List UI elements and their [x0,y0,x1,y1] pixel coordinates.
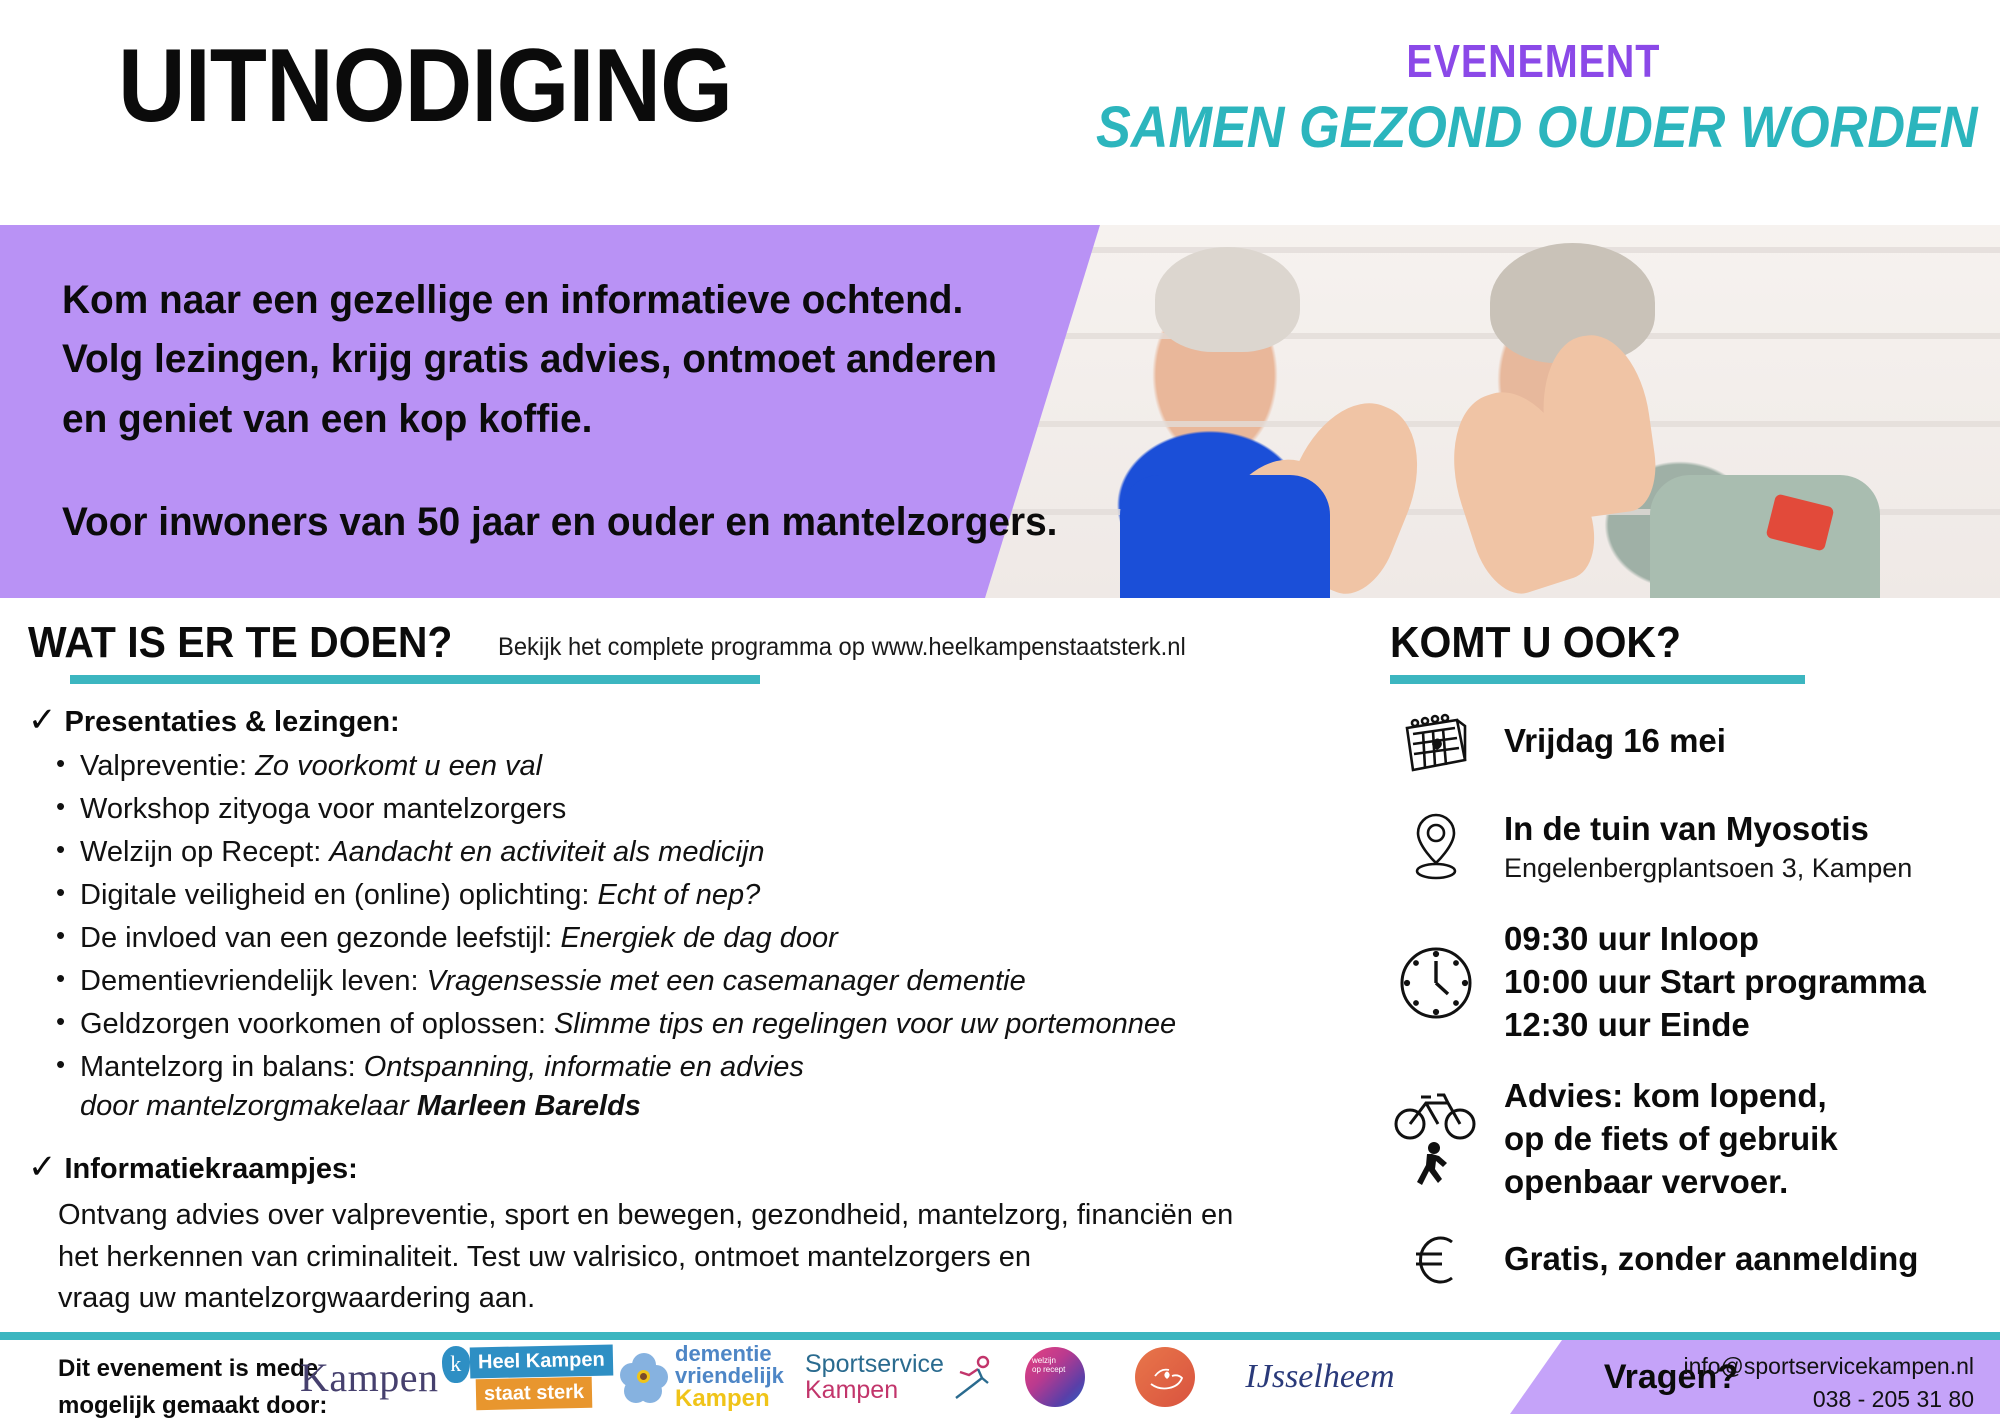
welzijn-op-recept-badge: welzijn op recept [1025,1347,1085,1407]
list-item: De invloed van een gezonde leefstijl: En… [28,922,1318,955]
left-column: WAT IS ER TE DOEN? Bekijk het complete p… [28,618,1318,1319]
time-line-1: 09:30 uur Inloop [1504,918,1926,961]
logo-heel-kampen: Heel Kampen staat sterk [470,1346,620,1409]
presentations-heading: ✓ Presentaties & lezingen: [28,706,1318,740]
dementie-wordmark: dementie vriendelijk Kampen [675,1343,784,1411]
credit-line-2: mogelijk gemaakt door: [58,1387,327,1424]
contact-email[interactable]: info@sportservicekampen.nl [1683,1350,1974,1383]
price-value: Gratis, zonder aanmelding [1504,1238,1918,1281]
banner-line-3: en geniet van een kop koffie. [62,390,1110,449]
main-content: WAT IS ER TE DOEN? Bekijk het complete p… [0,598,2000,1314]
location-text: In de tuin van Myosotis Engelenbergplant… [1504,808,1912,884]
logo-isselheem: IJsselheem [1220,1358,1420,1396]
time-line-2: 10:00 uur Start programma [1504,961,1926,1004]
calendar-icon [1390,708,1482,774]
topic-emphasis: Energiek de dag door [560,922,837,954]
info-stands-body: Ontvang advies over valpreventie, sport … [28,1195,1318,1319]
dementie-line-1: dementie [675,1343,784,1365]
info-line-3: vraag uw mantelzorgwaardering aan. [58,1278,1318,1319]
list-item: Workshop zityoga voor mantelzorgers [28,793,1318,826]
event-kicker: EVENEMENT [1406,34,1660,88]
presentations-label: Presentaties & lezingen: [65,706,400,739]
sponsor-credit: Dit evenement is mede mogelijk gemaakt d… [58,1350,327,1424]
banner-line-4: Voor inwoners van 50 jaar en ouder en ma… [62,493,1110,552]
detail-times: 09:30 uur Inloop 10:00 uur Start program… [1390,918,1975,1047]
travel-line-3: openbaar vervoer. [1504,1161,1838,1204]
topic-lead: De invloed van een gezonde leefstijl: [80,922,560,954]
wor-line-1: welzijn [1032,1356,1065,1365]
topic-lead: Digitale veiligheid en (online) oplichti… [80,879,597,911]
dementie-line-3: Kampen [675,1387,784,1411]
list-item: Mantelzorg in balans: Ontspanning, infor… [28,1051,1318,1084]
right-column: KOMT U OOK? Vrijdag 16 mei [1390,618,1975,1290]
contact-block: info@sportservicekampen.nl 038 - 205 31 … [1683,1350,1974,1417]
contact-phone[interactable]: 038 - 205 31 80 [1683,1383,1974,1416]
info-stands-heading: ✓ Informatiekraampjes: [28,1153,1318,1187]
runner-icon [950,1355,994,1399]
left-heading-rule [70,675,760,684]
topic-lead: Workshop zityoga voor mantelzorgers [80,793,566,825]
date-value: Vrijdag 16 mei [1504,720,1726,763]
poster-header: UITNODIGING EVENEMENT SAMEN GEZOND OUDER… [0,0,2000,225]
info-line-2: het herkennen van criminaliteit. Test uw… [58,1237,1318,1278]
credit-line-1: Dit evenement is mede [58,1350,327,1387]
logo-sportservice-kampen: Sportservice Kampen [805,1351,1000,1404]
logo-kampen: Kampen k [300,1354,470,1401]
presentation-list: Valpreventie: Zo voorkomt u een val Work… [28,750,1318,1084]
info-stands-label: Informatiekraampjes: [65,1153,358,1186]
detail-date: Vrijdag 16 mei [1390,708,1975,774]
topic-emphasis: Aandacht en activiteit als medicijn [329,836,764,868]
info-line-1: Ontvang advies over valpreventie, sport … [58,1195,1318,1236]
right-heading-rule [1390,675,1805,684]
check-icon: ✓ [28,703,57,737]
banner-line-1: Kom naar een gezellige en informatieve o… [62,271,1110,330]
detail-travel: Advies: kom lopend, op de fiets of gebru… [1390,1075,1975,1204]
hero-banner: Kom naar een gezellige en informatieve o… [0,225,2000,598]
topic-emphasis: Vragensessie met een casemanager dementi… [427,965,1026,997]
right-section-heading: KOMT U OOK? [1390,618,1934,668]
clock-icon [1390,942,1482,1024]
left-section-heading: WAT IS ER TE DOEN? [28,618,452,668]
list-item: Digitale veiligheid en (online) oplichti… [28,879,1318,912]
banner-text-block: Kom naar een gezellige en informatieve o… [62,225,1142,598]
topic-lead: Dementievriendelijk leven: [80,965,427,997]
venue-name: In de tuin van Myosotis [1504,808,1912,851]
list-item: Valpreventie: Zo voorkomt u een val [28,750,1318,783]
date-text: Vrijdag 16 mei [1504,720,1726,763]
speaker-name: Marleen Barelds [417,1090,641,1122]
topic-lead: Valpreventie: [80,750,255,782]
travel-text: Advies: kom lopend, op de fiets of gebru… [1504,1075,1838,1204]
speaker-line: door mantelzorgmakelaar Marleen Barelds [28,1090,1318,1123]
topic-emphasis: Ontspanning, informatie en advies [364,1051,804,1083]
heel-kampen-line-1: Heel Kampen [470,1344,613,1378]
sportservice-line-1: Sportservice [805,1351,944,1377]
topic-lead: Mantelzorg in balans: [80,1051,364,1083]
topic-emphasis: Echt of nep? [597,879,760,911]
location-pin-icon [1390,809,1482,883]
logo-care-circle [1110,1347,1220,1407]
venue-address: Engelenbergplantsoen 3, Kampen [1504,852,1912,884]
isselheem-wordmark: IJsselheem [1245,1358,1394,1396]
euro-icon [1390,1230,1482,1290]
flower-icon [620,1353,668,1401]
event-subtitle: SAMEN GEZOND OUDER WORDEN [1096,94,1978,161]
travel-line-1: Advies: kom lopend, [1504,1075,1838,1118]
sportservice-wordmark: Sportservice Kampen [805,1351,944,1404]
time-line-3: 12:30 uur Einde [1504,1004,1926,1047]
check-icon: ✓ [28,1150,57,1184]
programme-note: Bekijk het complete programma op www.hee… [498,633,1186,662]
sportservice-line-2: Kampen [805,1377,944,1403]
wor-line-2: op recept [1032,1365,1065,1374]
bicycle-walker-icon [1390,1087,1482,1191]
list-item: Welzijn op Recept: Aandacht en activitei… [28,836,1318,869]
detail-price: Gratis, zonder aanmelding [1390,1230,1975,1290]
page-title: UITNODIGING [118,34,732,138]
list-item: Dementievriendelijk leven: Vragensessie … [28,965,1318,998]
logo-welzijn-op-recept: welzijn op recept [1000,1347,1110,1407]
topic-lead: Geldzorgen voorkomen of oplossen: [80,1008,554,1040]
kampen-wordmark: Kampen [300,1354,439,1401]
logo-dementievriendelijk: dementie vriendelijk Kampen [620,1343,805,1411]
travel-line-2: op de fiets of gebruik [1504,1118,1838,1161]
kampen-shield-icon: k [442,1346,470,1383]
sponsor-logos: Kampen k Heel Kampen staat sterk dementi… [300,1340,1420,1414]
dementie-line-2: vriendelijk [675,1365,784,1387]
footer-rule [0,1332,2000,1340]
topic-lead: Welzijn op Recept: [80,836,329,868]
footer-bar: Dit evenement is mede mogelijk gemaakt d… [0,1340,2000,1414]
times-text: 09:30 uur Inloop 10:00 uur Start program… [1504,918,1926,1047]
list-item: Geldzorgen voorkomen of oplossen: Slimme… [28,1008,1318,1041]
price-text: Gratis, zonder aanmelding [1504,1238,1918,1281]
speaker-prefix: door mantelzorgmakelaar [80,1090,417,1122]
topic-emphasis: Slimme tips en regelingen voor uw portem… [554,1008,1176,1040]
topic-emphasis: Zo voorkomt u een val [255,750,542,782]
heel-kampen-line-2: staat sterk [476,1376,593,1409]
heart-in-hand-icon [1135,1347,1195,1407]
banner-line-2: Volg lezingen, krijg gratis advies, ontm… [62,330,1110,389]
detail-location: In de tuin van Myosotis Engelenbergplant… [1390,808,1975,884]
